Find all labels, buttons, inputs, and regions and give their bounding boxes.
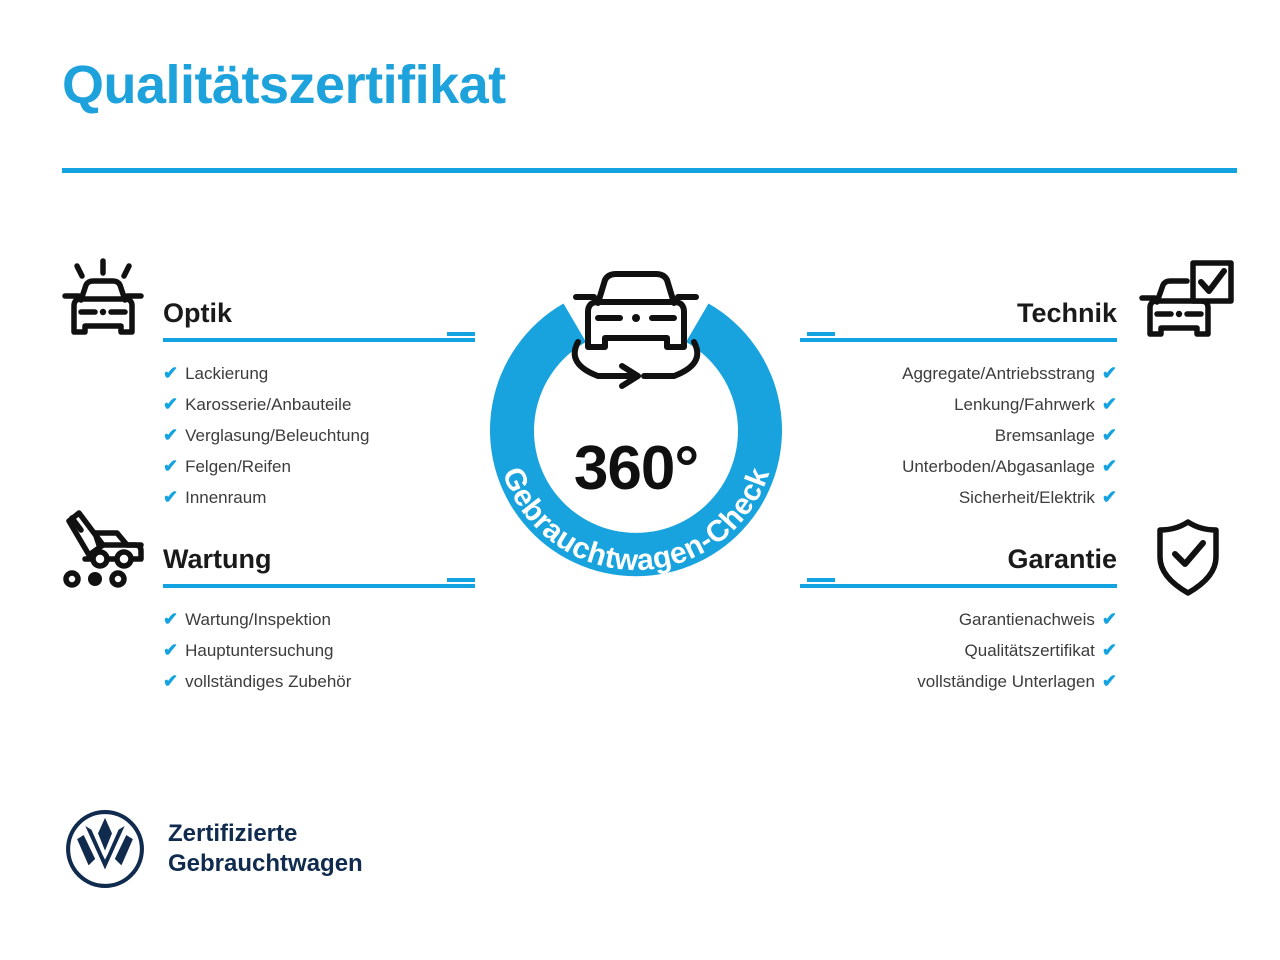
list-item: ✔ Hauptuntersuchung (163, 635, 475, 666)
badge-360-gebrauchtwagen-check: Gebrauchtwagen-Check (458, 252, 814, 608)
list-item: Unterboden/Abgasanlage ✔ (800, 451, 1117, 482)
list-item: ✔ Innenraum (163, 482, 475, 513)
check-icon: ✔ (1102, 666, 1117, 696)
list-item: ✔ Verglasung/Beleuchtung (163, 420, 475, 451)
list-item-label: Qualitätszertifikat (965, 636, 1095, 666)
checklist-garantie: Garantienachweis ✔ Qualitätszertifikat ✔… (800, 604, 1117, 697)
section-title-garantie: Garantie (800, 542, 1117, 576)
check-icon: ✔ (163, 635, 178, 665)
checklist-wartung: ✔ Wartung/Inspektion ✔ Hauptuntersuchung… (163, 604, 475, 697)
list-item: vollständige Unterlagen ✔ (800, 666, 1117, 697)
list-item: Aggregate/Antriebsstrang ✔ (800, 358, 1117, 389)
list-item-label: Aggregate/Antriebsstrang (902, 359, 1095, 389)
section-divider-optik (163, 338, 475, 342)
header-divider (62, 168, 1237, 173)
page-title: Qualitätszertifikat (62, 56, 506, 115)
list-item-label: Sicherheit/Elektrik (959, 483, 1095, 513)
certificate-page: Qualitätszertifikat (0, 0, 1280, 960)
section-technik: Technik Aggregate/Antriebsstrang ✔ Lenku… (800, 296, 1117, 513)
checklist-optik: ✔ Lackierung ✔ Karosserie/Anbauteile ✔ V… (163, 358, 475, 513)
check-icon: ✔ (163, 666, 178, 696)
section-divider-wartung (163, 584, 475, 588)
list-item-label: Felgen/Reifen (185, 452, 291, 482)
check-icon: ✔ (1102, 389, 1117, 419)
check-icon: ✔ (163, 482, 178, 512)
list-item: ✔ Felgen/Reifen (163, 451, 475, 482)
list-item-label: Verglasung/Beleuchtung (185, 421, 369, 451)
footer-logo-text: Zertifizierte Gebrauchtwagen (168, 819, 363, 879)
car-front-checkbox-icon (1139, 258, 1235, 350)
check-icon: ✔ (163, 451, 178, 481)
badge-center-label: 360° (458, 438, 814, 500)
check-icon: ✔ (1102, 420, 1117, 450)
list-item-label: Innenraum (185, 483, 266, 513)
car-front-shine-icon (55, 258, 151, 350)
list-item-label: Wartung/Inspektion (185, 605, 331, 635)
list-item: Sicherheit/Elektrik ✔ (800, 482, 1117, 513)
check-icon: ✔ (1102, 451, 1117, 481)
list-item: ✔ Karosserie/Anbauteile (163, 389, 475, 420)
section-title-optik: Optik (163, 296, 475, 330)
section-garantie: Garantie Garantienachweis ✔ Qualitätszer… (800, 542, 1117, 697)
section-header-wartung: Wartung (163, 542, 475, 588)
list-item-label: Karosserie/Anbauteile (185, 390, 351, 420)
section-divider-garantie (800, 584, 1117, 588)
list-item-label: Lenkung/Fahrwerk (954, 390, 1095, 420)
section-wartung: Wartung ✔ Wartung/Inspektion ✔ Hauptunte… (163, 542, 475, 697)
list-item-label: Garantienachweis (959, 605, 1095, 635)
section-title-wartung: Wartung (163, 542, 475, 576)
checklist-technik: Aggregate/Antriebsstrang ✔ Lenkung/Fahrw… (800, 358, 1117, 513)
list-item-label: Bremsanlage (995, 421, 1095, 451)
list-item: Lenkung/Fahrwerk ✔ (800, 389, 1117, 420)
footer-line-1: Zertifizierte (168, 819, 363, 849)
list-item-label: Hauptuntersuchung (185, 636, 333, 666)
list-item: Bremsanlage ✔ (800, 420, 1117, 451)
check-icon: ✔ (1102, 635, 1117, 665)
list-item: ✔ vollständiges Zubehör (163, 666, 475, 697)
list-item: ✔ Lackierung (163, 358, 475, 389)
list-item: Qualitätszertifikat ✔ (800, 635, 1117, 666)
check-icon: ✔ (1102, 604, 1117, 634)
volkswagen-logo (64, 808, 146, 890)
section-header-optik: Optik (163, 296, 475, 342)
list-item-label: vollständige Unterlagen (917, 667, 1095, 697)
list-item-label: Unterboden/Abgasanlage (902, 452, 1095, 482)
section-header-technik: Technik (800, 296, 1117, 342)
check-icon: ✔ (1102, 482, 1117, 512)
list-item: Garantienachweis ✔ (800, 604, 1117, 635)
footer-line-2: Gebrauchtwagen (168, 849, 363, 879)
list-item-label: vollständiges Zubehör (185, 667, 351, 697)
car-rotate-icon (575, 274, 698, 386)
pencil-car-service-icon (55, 505, 151, 597)
check-icon: ✔ (1102, 358, 1117, 388)
check-icon: ✔ (163, 420, 178, 450)
section-title-technik: Technik (800, 296, 1117, 330)
section-optik: Optik ✔ Lackierung ✔ Karosserie/Anbautei… (163, 296, 475, 513)
shield-check-icon (1146, 513, 1242, 605)
footer-logo-block: Zertifizierte Gebrauchtwagen (64, 808, 363, 890)
list-item: ✔ Wartung/Inspektion (163, 604, 475, 635)
section-divider-technik (800, 338, 1117, 342)
check-icon: ✔ (163, 389, 178, 419)
section-header-garantie: Garantie (800, 542, 1117, 588)
check-icon: ✔ (163, 358, 178, 388)
check-icon: ✔ (163, 604, 178, 634)
list-item-label: Lackierung (185, 359, 268, 389)
